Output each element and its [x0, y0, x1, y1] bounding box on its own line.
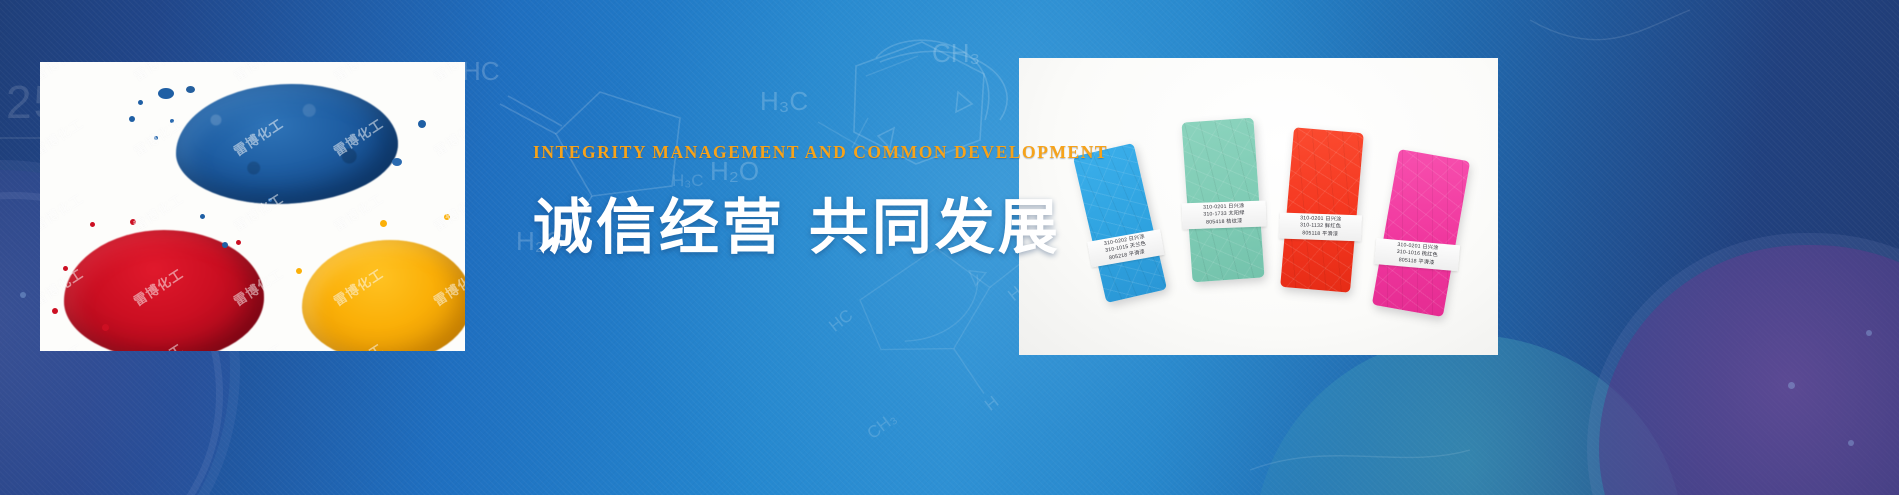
pigment-speck [236, 240, 241, 245]
watermark-text: 雷博化工 [40, 338, 87, 351]
pigment-speck [268, 198, 272, 202]
headline: 诚信经营 共同发展 [533, 179, 1033, 266]
banner-text-block: INTEGRITY MANAGEMENT AND COMMON DEVELOPM… [533, 142, 1033, 266]
chem-label-hc: HC [462, 56, 500, 86]
pigment-speck [130, 219, 136, 225]
blue-pigment-pile [176, 84, 398, 204]
tagline: INTEGRITY MANAGEMENT AND COMMON DEVELOPM… [533, 142, 1033, 163]
watermark-text: 雷博化工 [329, 62, 386, 85]
decorative-dot [1866, 330, 1872, 336]
watermark-text: 雷博化工 [429, 62, 465, 85]
pigment-speck [154, 136, 158, 140]
watermark-text: 雷博化工 [40, 188, 87, 234]
pigment-speck [186, 86, 195, 93]
watermark-text: 雷博化工 [429, 188, 465, 234]
pigment-speck [418, 120, 426, 128]
card-texture [1372, 149, 1470, 317]
pink-color-card: 310-0201 日兴涂 310-1016 桃红色 805118 平滑漆 [1372, 149, 1470, 317]
pigment-speck [52, 308, 58, 314]
pigment-speck [296, 268, 302, 274]
card-texture [1073, 143, 1167, 303]
red-color-card: 310-0201 日兴涂 310-1132 鲜红色 805118 平滑漆 [1280, 127, 1364, 292]
card-label-text: 310-0202 日兴涂 310-1015 天兰色 805218 平滑漆 [1104, 234, 1148, 262]
photo-left-inner: 雷博化工 雷博化工 雷博化工 雷博化工 雷博化工 雷博化工 雷博化工 雷博化工 … [40, 62, 465, 351]
promo-banner: 250 HC H₂C H₃C CH₃ [0, 0, 1899, 495]
watermark-text: 雷博化工 [229, 62, 286, 85]
card-label-line3: 805118 平滑漆 [1299, 230, 1341, 238]
chem-label-h-2: H [981, 392, 1002, 415]
card-label-band: 310-0201 日兴涂 310-1733 太阳绿 805418 桔纹漆 [1182, 201, 1267, 230]
decorative-dot [1848, 440, 1854, 446]
blue-color-card: 310-0202 日兴涂 310-1015 天兰色 805218 平滑漆 [1073, 143, 1167, 303]
card-texture [1280, 127, 1364, 292]
pigment-speck [380, 220, 387, 227]
watermark-text: 雷博化工 [129, 62, 186, 85]
pigment-speck [138, 100, 143, 105]
pigment-speck [129, 116, 135, 122]
pigment-speck [444, 214, 450, 220]
pigment-speck [170, 119, 174, 123]
watermark-text: 雷博化工 [40, 113, 87, 159]
pigment-speck [222, 242, 228, 248]
pigment-speck [63, 266, 68, 271]
yellow-pigment-pile [302, 240, 465, 351]
decorative-dot [20, 292, 26, 298]
pigment-powders-photo: 雷博化工 雷博化工 雷博化工 雷博化工 雷博化工 雷博化工 雷博化工 雷博化工 … [40, 62, 465, 351]
pigment-speck [200, 214, 205, 219]
photo-right-inner: 310-0202 日兴涂 310-1015 天兰色 805218 平滑漆 310… [1019, 58, 1498, 355]
decorative-dot [1788, 382, 1795, 389]
pigment-speck [90, 222, 95, 227]
color-sample-cards-photo: 310-0202 日兴涂 310-1015 天兰色 805218 平滑漆 310… [1019, 58, 1498, 355]
card-label-text: 310-0201 日兴涂 310-1016 桃红色 805118 平滑漆 [1396, 242, 1439, 267]
watermark-text: 雷博化工 [129, 188, 186, 234]
chem-label-ch3-b: CH₃ [864, 409, 901, 443]
chem-label-ch3: CH₃ [932, 38, 980, 68]
pigment-speck [102, 324, 109, 331]
card-label-text: 310-0201 日兴涂 310-1733 太阳绿 805418 桔纹漆 [1203, 204, 1245, 226]
red-pigment-pile [64, 230, 264, 351]
pigment-speck [158, 88, 174, 99]
chem-label-hc2: HC [825, 306, 856, 336]
decorative-blob-right [1599, 245, 1899, 495]
card-label-line3: 805418 桔纹漆 [1204, 218, 1246, 226]
chem-label-h3c: H₃C [760, 86, 808, 116]
watermark-text: 雷博化工 [429, 113, 465, 159]
green-color-card: 310-0201 日兴涂 310-1733 太阳绿 805418 桔纹漆 [1182, 118, 1265, 283]
card-label-text: 310-0201 日兴涂 310-1132 鲜红色 805118 平滑漆 [1299, 216, 1341, 238]
watermark-text: 雷博化工 [40, 62, 87, 85]
pigment-speck [392, 158, 402, 166]
card-label-band: 310-0201 日兴涂 310-1132 鲜红色 805118 平滑漆 [1279, 213, 1362, 242]
